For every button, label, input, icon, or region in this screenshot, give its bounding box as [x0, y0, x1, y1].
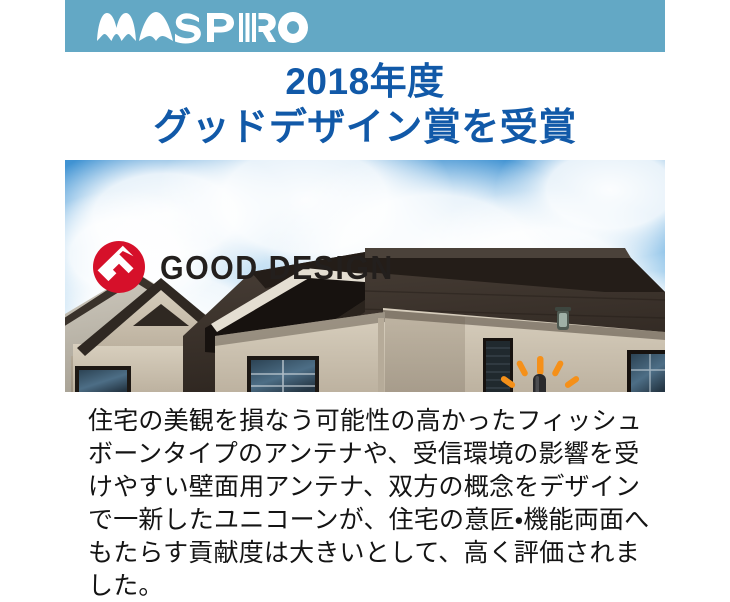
wall-lamp [555, 307, 571, 330]
antenna-body [533, 374, 546, 392]
good-design-wordmark: GOOD DESIGN [160, 251, 394, 284]
brand-header-band [65, 0, 665, 52]
good-design-badge: GOOD DESIGN [92, 240, 414, 294]
good-design-g-mark [92, 240, 146, 294]
maspro-logo [95, 7, 310, 45]
unicorn-antenna [495, 356, 585, 392]
promo-page: 2018年度 グッドデザイン賞を受賞 [0, 0, 730, 600]
description-text: 住宅の美観を損なう可能性の高かったフィッシュボーンタイプのアンテナや、受信環境の… [88, 404, 660, 602]
title-line-award: グッドデザイン賞を受賞 [0, 105, 730, 152]
description-paragraph: 住宅の美観を損なう可能性の高かったフィッシュボーンタイプのアンテナや、受信環境の… [88, 404, 660, 602]
award-photo: GOOD DESIGN [65, 160, 665, 392]
page-title: 2018年度 グッドデザイン賞を受賞 [0, 58, 730, 152]
title-line-year: 2018年度 [0, 58, 730, 105]
